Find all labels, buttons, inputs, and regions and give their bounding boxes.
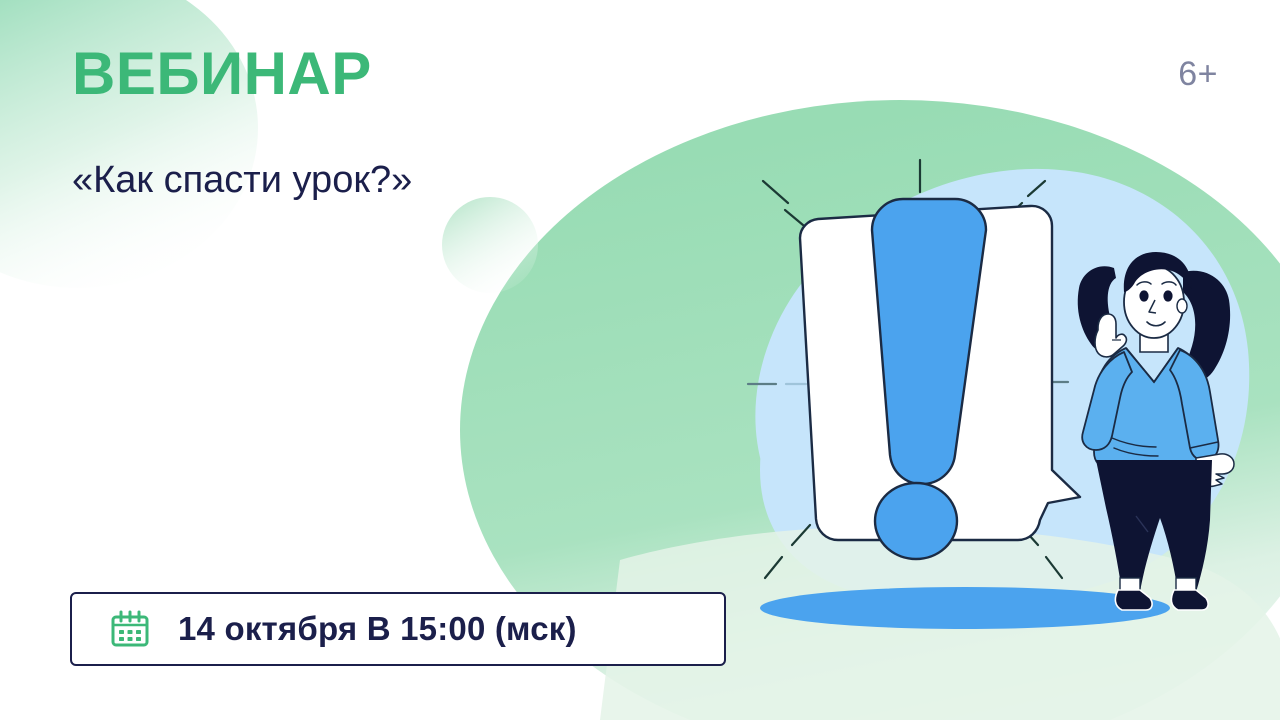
dash-top-right-outer	[1028, 181, 1045, 196]
date-badge[interactable]: 14 октября В 15:00 (мск)	[70, 592, 726, 666]
sock-right	[1176, 578, 1196, 598]
speech-bubble	[800, 206, 1080, 540]
dash-top-left-inner	[785, 210, 803, 225]
calendar-icon	[110, 609, 150, 649]
decor-blue-blob	[755, 169, 1249, 600]
floor-ellipse-shadow	[760, 587, 1170, 629]
neck	[1140, 325, 1168, 352]
age-rating-badge: 6+	[1178, 57, 1218, 91]
arm-right	[1170, 350, 1219, 460]
nose	[1149, 300, 1156, 313]
dash-bottom-right-outer	[1046, 557, 1062, 578]
page-subtitle: «Как спасти урок?»	[72, 158, 412, 204]
shoe-right	[1171, 590, 1208, 610]
page-title: ВЕБИНАР	[72, 44, 372, 104]
trousers-fold	[1136, 516, 1148, 532]
sock-left	[1120, 578, 1140, 598]
exclamation-stem	[872, 199, 986, 484]
ear	[1177, 299, 1187, 313]
decor-gradient-circle-small	[442, 197, 538, 293]
eyebrow-left	[1137, 282, 1151, 285]
dash-bottom-right-inner	[1020, 525, 1038, 545]
shoe-left	[1115, 590, 1152, 610]
girl-character	[1078, 252, 1234, 610]
hair-pigtail-right	[1183, 271, 1230, 381]
hand-right	[1196, 454, 1234, 487]
trousers	[1096, 460, 1212, 592]
eye-left	[1139, 290, 1148, 301]
hand-pointing	[1095, 314, 1126, 357]
arm-raised-left	[1082, 352, 1132, 450]
sweater-vneck	[1126, 348, 1178, 382]
decor-blue-blob-lobe	[760, 289, 1068, 600]
face	[1124, 266, 1184, 338]
sweater-fold-1	[1112, 438, 1156, 447]
hair-pigtail-left	[1078, 266, 1116, 352]
sweater-fold-2	[1114, 448, 1158, 456]
dash-top-left-outer	[763, 181, 788, 203]
cuff-right	[1190, 442, 1218, 448]
mouth	[1147, 322, 1165, 326]
sweater-torso	[1094, 348, 1211, 468]
date-badge-label: 14 октября В 15:00 (мск)	[178, 610, 577, 648]
radiating-dashes	[748, 160, 1068, 578]
eyebrow-right	[1162, 282, 1176, 285]
eye-right	[1163, 290, 1172, 301]
hair-top	[1124, 252, 1192, 292]
dash-top-right-inner	[1008, 203, 1022, 216]
exclamation-dot	[875, 483, 957, 559]
webinar-announcement-slide: ВЕБИНАР «Как спасти урок?» 6+ 14 октября…	[0, 0, 1280, 720]
dash-bottom-left-outer	[765, 557, 782, 578]
dash-bottom-left-inner	[792, 525, 810, 545]
